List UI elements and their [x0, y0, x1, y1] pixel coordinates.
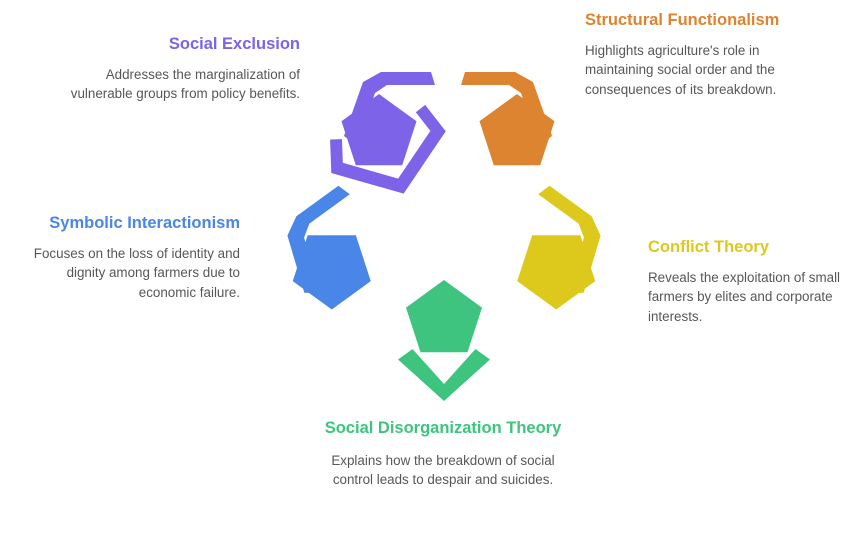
node-social-disorganization-theory: Social Disorganization Theory Explains h…	[318, 418, 568, 490]
node-title-social-exclusion: Social Exclusion	[60, 34, 300, 56]
node-body-conflict-theory: Reveals the exploitation of small farmer…	[648, 268, 848, 327]
node-title-conflict-theory: Conflict Theory	[648, 237, 848, 259]
node-structural-functionalism: Structural Functionalism Highlights agri…	[585, 10, 800, 99]
pentagon-bracket-orange-icon	[449, 58, 585, 194]
pentagon-bracket-green-icon	[376, 270, 512, 406]
node-body-social-disorganization-theory: Explains how the breakdown of social con…	[318, 451, 568, 490]
node-title-social-disorganization-theory: Social Disorganization Theory	[318, 418, 568, 440]
pentagon-bracket-purple-icon	[311, 58, 447, 194]
node-conflict-theory: Conflict Theory Reveals the exploitation…	[648, 237, 848, 326]
node-title-structural-functionalism: Structural Functionalism	[585, 10, 800, 32]
diagram-canvas: Social Exclusion Addresses the marginali…	[0, 0, 864, 544]
node-social-exclusion: Social Exclusion Addresses the marginali…	[60, 34, 300, 104]
node-body-structural-functionalism: Highlights agriculture's role in maintai…	[585, 41, 800, 100]
node-symbolic-interactionism: Symbolic Interactionism Focuses on the l…	[18, 213, 240, 302]
node-title-symbolic-interactionism: Symbolic Interactionism	[18, 213, 240, 235]
node-body-social-exclusion: Addresses the marginalization of vulnera…	[60, 65, 300, 104]
node-body-symbolic-interactionism: Focuses on the loss of identity and dign…	[18, 244, 240, 303]
